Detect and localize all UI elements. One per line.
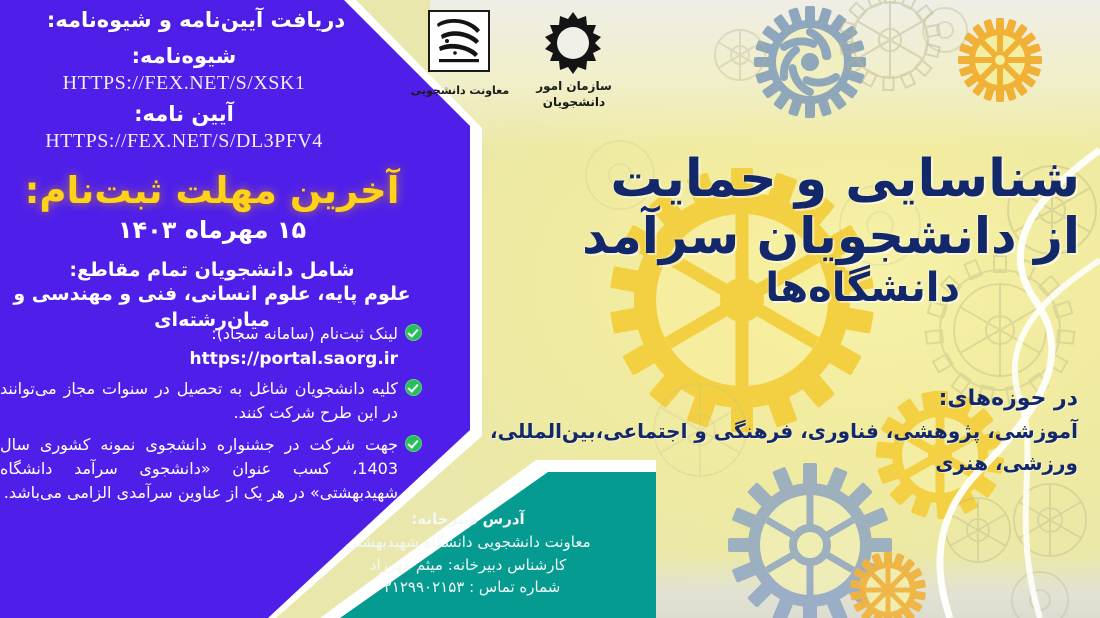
regulation-url[interactable]: HTTPS://FEX.NET/S/DL3PFV4: [0, 128, 368, 155]
method-label: شیوه‌نامه:: [0, 42, 368, 70]
secretariat-block: آدرس دبیرخانه: معاونت دانشجویی دانشگاه ش…: [300, 508, 636, 599]
bullet-text: لینک ثبت‌نام (سامانه سجاد):: [0, 322, 398, 346]
bullet-list: لینک ثبت‌نام (سامانه سجاد): https://port…: [0, 322, 424, 513]
deadline-date: ۱۵ مهرماه ۱۴۰۳: [0, 214, 424, 246]
organization-caption-line-2: دانشجویان: [543, 95, 605, 109]
scope-heading: شامل دانشجویان تمام مقاطع:: [0, 258, 424, 284]
bullet-text: کلیه دانشجویان شاغل به تحصیل در سنوات مج…: [0, 377, 398, 425]
secretariat-phone: شماره تماس : ۰۲۱۲۹۹۰۲۱۵۳: [300, 576, 636, 599]
student-affairs-organization-logo-icon: [538, 10, 608, 76]
regulation-label: آیین نامه:: [0, 100, 368, 128]
check-circle-icon: [405, 379, 422, 396]
fields-list: آموزشی، پژوهشی، فناوری، فرهنگی و اجتماعی…: [438, 415, 1078, 479]
organization-caption: سازمان امور دانشجویان: [510, 78, 638, 110]
list-item: جهت شرکت در جشنواره دانشجوی نمونه کشوری …: [0, 433, 424, 505]
main-title: شناسایی و حمایت از دانشجویان سرآمد دانشگ…: [460, 150, 1080, 311]
secretariat-line-2: کارشناس دبیرخانه: میثم مهرزاد: [300, 554, 636, 577]
list-item: لینک ثبت‌نام (سامانه سجاد): https://port…: [0, 322, 424, 373]
registration-url[interactable]: https://portal.saorg.ir: [0, 347, 398, 373]
fields-block: در حوزه‌های: آموزشی، پژوهشی، فناوری، فره…: [438, 382, 1078, 479]
main-title-line-2: از دانشجویان سرآمد: [460, 208, 1080, 265]
check-circle-icon: [405, 435, 422, 452]
list-item: کلیه دانشجویان شاغل به تحصیل در سنوات مج…: [0, 377, 424, 425]
main-title-line-1: شناسایی و حمایت: [460, 150, 1080, 208]
organization-caption-line-1: سازمان امور: [536, 79, 612, 93]
poster-canvas: دریافت آیین‌نامه و شیوه‌نامه: شیوه‌نامه:…: [0, 0, 1100, 618]
bullet-text: جهت شرکت در جشنواره دانشجوی نمونه کشوری …: [0, 433, 398, 505]
download-heading: دریافت آیین‌نامه و شیوه‌نامه:: [0, 6, 392, 34]
calligraphy-mark-icon: [433, 15, 485, 67]
check-circle-icon: [405, 324, 422, 341]
secretariat-heading: آدرس دبیرخانه:: [300, 508, 636, 531]
fields-heading: در حوزه‌های:: [438, 382, 1078, 415]
logo-area: معاونت دانشجویی سازمان امور دانشجویان: [418, 4, 668, 116]
shahid-beheshti-university-logo: معاونت دانشجویی: [428, 10, 494, 76]
university-caption: معاونت دانشجویی: [394, 84, 526, 97]
main-title-line-3: دانشگاه‌ها: [460, 265, 1080, 311]
method-url[interactable]: HTTPS://FEX.NET/S/XSK1: [0, 70, 368, 97]
deadline-title: آخرین مهلت ثبت‌نام:: [0, 166, 424, 216]
secretariat-line-1: معاونت دانشجویی دانشگاه شهیدبهشتی: [300, 531, 636, 554]
